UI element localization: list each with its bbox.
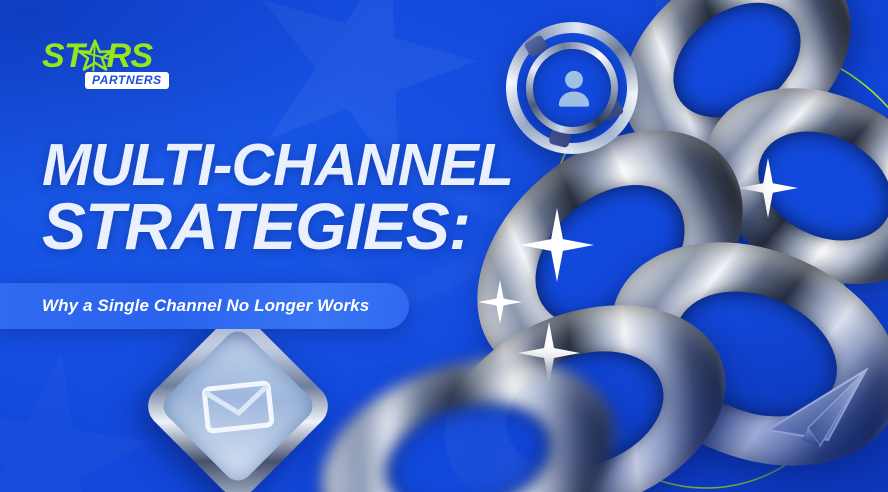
hero-banner: STRS PARTNERS MULTI-CHANNEL STRATEGIES: … [0, 0, 888, 492]
logo-word-after-star: RS [106, 37, 152, 75]
star-icon [78, 39, 112, 73]
subtitle-banner: Why a Single Channel No Longer Works [0, 283, 409, 329]
page-title: MULTI-CHANNEL STRATEGIES: [42, 138, 562, 257]
logo-tagline-banner: PARTNERS [85, 72, 169, 89]
logo-tagline-text: PARTNERS [92, 74, 162, 86]
headline-line-1: MULTI-CHANNEL [42, 138, 562, 192]
user-person-icon [552, 66, 596, 110]
envelope-mail-icon [198, 366, 278, 446]
headline-line-2: STRATEGIES: [42, 196, 562, 257]
subtitle-text: Why a Single Channel No Longer Works [42, 296, 369, 316]
stars-partners-logo[interactable]: STRS PARTNERS [42, 38, 162, 96]
